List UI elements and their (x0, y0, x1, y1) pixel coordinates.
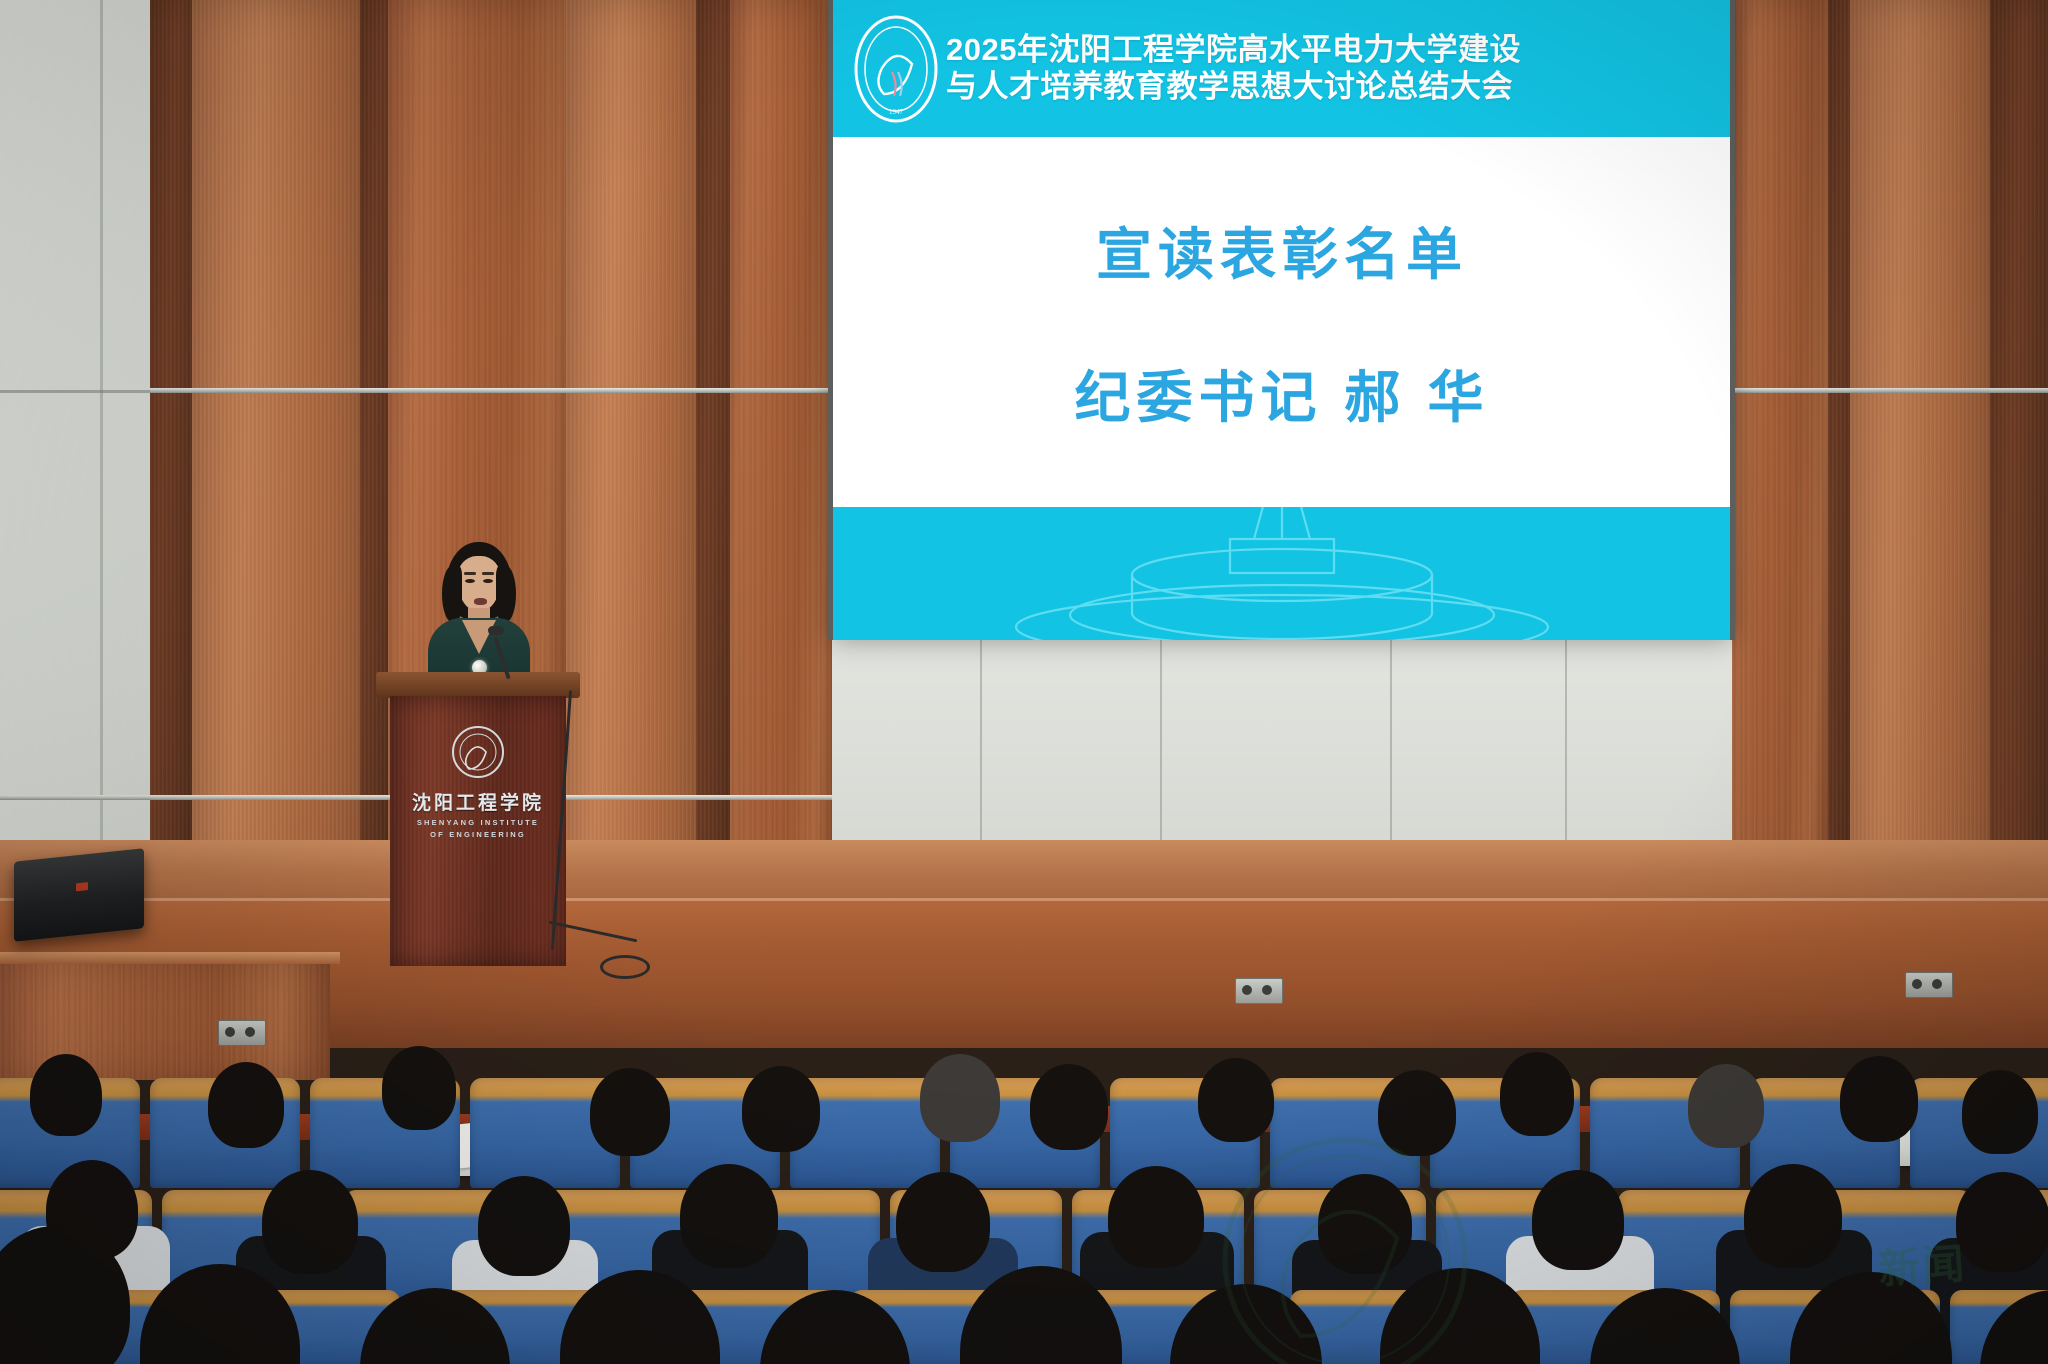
slide-body: 宣读表彰名单 纪委书记 郝 华 (832, 137, 1732, 507)
wall-panel-seam-1 (980, 636, 982, 854)
presenter-hair-right (496, 566, 516, 622)
stage-front-highlight (0, 898, 2048, 906)
wall-wood-column-8 (1732, 0, 1828, 880)
lectern-name-en-line2: OF ENGINEERING (430, 830, 526, 839)
wall-trim-upper (150, 388, 834, 393)
school-seal-icon: 1947 (846, 10, 946, 128)
wall-wood-column-2 (192, 0, 360, 880)
slide-header-banner: 1947 2025年沈阳工程学院高水平电力大学建设 与人才培养教育教学思想大讨论… (832, 0, 1732, 137)
wall-panel-grey-left (0, 0, 150, 880)
stage-lower-step-top (0, 952, 340, 964)
wall-wood-column-9 (1828, 0, 1850, 880)
wall-wood-column-3 (360, 0, 388, 880)
wall-panel-below-screen (832, 636, 1732, 854)
svg-text:1947: 1947 (889, 108, 904, 116)
lectern-name-cn: 沈阳工程学院 (412, 788, 544, 815)
slide-header-title: 2025年沈阳工程学院高水平电力大学建设 与人才培养教育教学思想大讨论总结大会 (946, 32, 1732, 105)
wall-wood-column-10 (1850, 0, 1990, 880)
wall-wood-column-6 (696, 0, 730, 880)
lectern-school-seal-icon (450, 724, 506, 780)
audience-seating (0, 1040, 2048, 1364)
presenter-eyebrow-right (482, 572, 494, 575)
cable-coil-on-floor (600, 955, 650, 979)
podium-microphone-head (488, 626, 504, 635)
slide-subheading: 纪委书记 郝 华 (1074, 353, 1489, 434)
lectern-front-panel: 沈阳工程学院 SHENYANG INSTITUTE OF ENGINEERING (390, 696, 566, 966)
lectern-podium: 沈阳工程学院 SHENYANG INSTITUTE OF ENGINEERING (386, 672, 570, 972)
wall-trim-upper-right (1732, 388, 2048, 393)
slide-header-title-line1: 2025年沈阳工程学院高水平电力大学建设 (946, 32, 1722, 69)
presenter-mouth (474, 598, 487, 605)
presenter-hair-left (442, 566, 462, 622)
slide-heading: 宣读表彰名单 (1096, 210, 1468, 291)
lectern-name-en-line1: SHENYANG INSTITUTE (417, 818, 539, 827)
stage-floor-power-outlet-right (1905, 972, 1953, 998)
conference-hall-photo: 1947 2025年沈阳工程学院高水平电力大学建设 与人才培养教育教学思想大讨论… (0, 0, 2048, 1364)
presenter-eye-left (465, 579, 475, 583)
wall-panel-seam-3 (1390, 636, 1392, 854)
slide-header-title-line2: 与人才培养教育教学思想大讨论总结大会 (946, 69, 1722, 106)
lectern-logo-block: 沈阳工程学院 SHENYANG INSTITUTE OF ENGINEERING (390, 724, 566, 839)
slide-footer-banner (832, 507, 1732, 640)
presenter-eye-right (483, 579, 493, 583)
stage-ripple-decoration-icon (1002, 507, 1562, 640)
wall-wood-column-7 (730, 0, 834, 880)
wall-panel-seam-2 (1160, 636, 1162, 854)
projection-screen: 1947 2025年沈阳工程学院高水平电力大学建设 与人才培养教育教学思想大讨论… (832, 0, 1732, 640)
stage-monitor-speaker (14, 848, 144, 942)
screen-bezel-right (1730, 0, 1735, 640)
screen-bezel-left (828, 0, 833, 640)
wall-wood-column-11 (1990, 0, 2048, 880)
wall-wood-column-1 (150, 0, 192, 880)
wall-wood-column-5 (566, 0, 696, 880)
lectern-top-surface (376, 672, 580, 698)
stage-floor-power-outlet-mid (1235, 978, 1283, 1004)
wall-panel-seam-4 (1565, 636, 1567, 854)
presenter-person (424, 542, 534, 692)
presenter-eyebrow-left (464, 572, 476, 575)
